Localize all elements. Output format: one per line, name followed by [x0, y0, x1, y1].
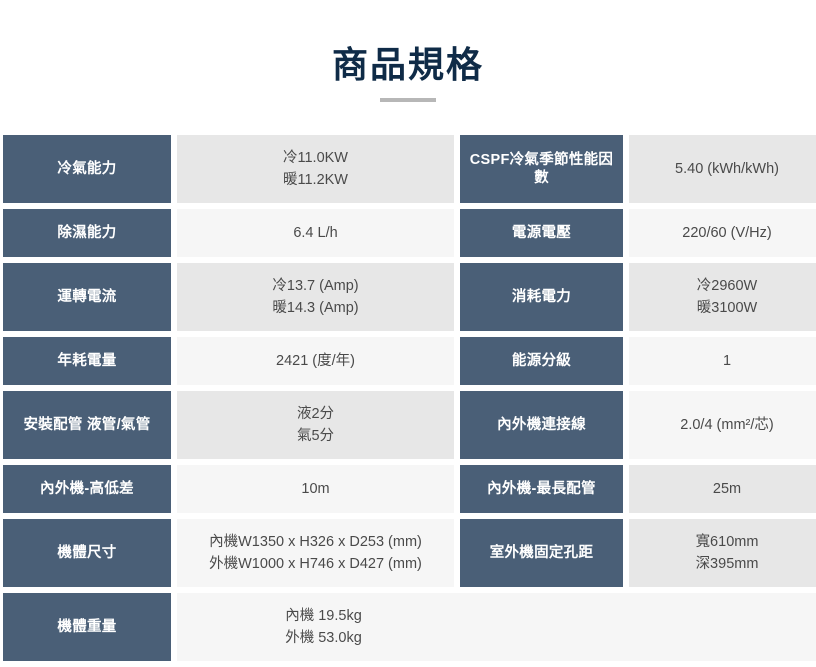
spec-label-text: 除濕能力 — [3, 209, 171, 257]
spec-value-text: 液2分氣5分 — [177, 391, 454, 459]
spec-label-text: 室外機固定孔距 — [460, 519, 623, 587]
spec-label-cell-left: 機體尺寸 — [3, 519, 171, 587]
spec-label-cell-left: 冷氣能力 — [3, 135, 171, 203]
value-line: 25m — [637, 478, 816, 500]
table-row: 年耗電量2421 (度/年)能源分級1 — [3, 337, 816, 385]
spec-value-text: 6.4 L/h — [177, 209, 454, 257]
spec-label-cell-left: 內外機-高低差 — [3, 465, 171, 513]
spec-label-text: CSPF冷氣季節性能因數 — [460, 135, 623, 203]
spec-value-cell-left: 內機W1350 x H326 x D253 (mm)外機W1000 x H746… — [177, 519, 454, 587]
value-line: 暖14.3 (Amp) — [185, 297, 446, 319]
page-header: 商品規格 — [0, 0, 816, 102]
value-line: 外機W1000 x H746 x D427 (mm) — [185, 553, 446, 575]
value-line: 10m — [185, 478, 446, 500]
spec-label-cell-right: 消耗電力 — [460, 263, 623, 331]
spec-value-cell-left: 2421 (度/年) — [177, 337, 454, 385]
spec-label-text: 電源電壓 — [460, 209, 623, 257]
spec-label-text: 內外機-最長配管 — [460, 465, 623, 513]
spec-value-text: 25m — [629, 465, 816, 513]
title-divider — [380, 98, 436, 102]
value-lines: 內機W1350 x H326 x D253 (mm)外機W1000 x H746… — [185, 531, 446, 576]
spec-value-cell-left: 液2分氣5分 — [177, 391, 454, 459]
table-row: 冷氣能力冷11.0KW暖11.2KWCSPF冷氣季節性能因數5.40 (kWh/… — [3, 135, 816, 203]
value-line: 6.4 L/h — [185, 222, 446, 244]
value-line: 暖11.2KW — [185, 169, 446, 191]
spec-value-text: 冷11.0KW暖11.2KW — [177, 135, 454, 203]
value-lines: 10m — [185, 478, 446, 500]
value-line: 氣5分 — [185, 425, 446, 447]
spec-value-cell-left: 10m — [177, 465, 454, 513]
table-row: 除濕能力6.4 L/h電源電壓220/60 (V/Hz) — [3, 209, 816, 257]
value-lines: 寬610mm深395mm — [637, 531, 816, 576]
spec-label-cell-right: CSPF冷氣季節性能因數 — [460, 135, 623, 203]
value-line: 冷13.7 (Amp) — [185, 275, 446, 297]
value-line: 1 — [637, 350, 816, 372]
table-row: 機體尺寸內機W1350 x H326 x D253 (mm)外機W1000 x … — [3, 519, 816, 587]
table-row: 機體重量內機 19.5kg外機 53.0kg — [3, 593, 816, 661]
spec-table-body: 冷氣能力冷11.0KW暖11.2KWCSPF冷氣季節性能因數5.40 (kWh/… — [3, 135, 816, 661]
spec-label-text: 冷氣能力 — [3, 135, 171, 203]
spec-value-text: 5.40 (kWh/kWh) — [629, 135, 816, 203]
spec-value-text: 冷2960W暖3100W — [629, 263, 816, 331]
value-line: 冷2960W — [637, 275, 816, 297]
spec-label-cell-left: 除濕能力 — [3, 209, 171, 257]
page-title: 商品規格 — [0, 44, 816, 85]
value-lines: 1 — [637, 350, 816, 372]
value-lines: 6.4 L/h — [185, 222, 446, 244]
spec-value-text: 內機 19.5kg外機 53.0kg — [177, 593, 816, 661]
spec-value-cell-right: 冷2960W暖3100W — [629, 263, 816, 331]
value-line: 內機 19.5kg — [185, 605, 462, 627]
spec-label-cell-left: 機體重量 — [3, 593, 171, 661]
value-line: 內機W1350 x H326 x D253 (mm) — [185, 531, 446, 553]
value-lines: 220/60 (V/Hz) — [637, 222, 816, 244]
value-line: 深395mm — [637, 553, 816, 575]
value-lines: 液2分氣5分 — [185, 403, 446, 448]
value-line: 液2分 — [185, 403, 446, 425]
spec-label-text: 內外機連接線 — [460, 391, 623, 459]
spec-value-cell-left: 6.4 L/h — [177, 209, 454, 257]
spec-value-text: 1 — [629, 337, 816, 385]
spec-label-cell-right: 內外機-最長配管 — [460, 465, 623, 513]
product-spec-page: 商品規格 冷氣能力冷11.0KW暖11.2KWCSPF冷氣季節性能因數5.40 … — [0, 0, 816, 639]
value-line: 2.0/4 (mm²/芯) — [637, 414, 816, 436]
value-lines: 內機 19.5kg外機 53.0kg — [185, 605, 462, 650]
spec-value-cell-right: 5.40 (kWh/kWh) — [629, 135, 816, 203]
spec-label-text: 年耗電量 — [3, 337, 171, 385]
spec-value-cell-right: 寬610mm深395mm — [629, 519, 816, 587]
value-line: 5.40 (kWh/kWh) — [637, 158, 816, 180]
spec-label-cell-right: 內外機連接線 — [460, 391, 623, 459]
spec-label-text: 機體重量 — [3, 593, 171, 661]
value-line: 冷11.0KW — [185, 147, 446, 169]
spec-value-cell-right: 25m — [629, 465, 816, 513]
spec-value-text: 冷13.7 (Amp)暖14.3 (Amp) — [177, 263, 454, 331]
value-lines: 冷11.0KW暖11.2KW — [185, 147, 446, 192]
spec-value-text: 2.0/4 (mm²/芯) — [629, 391, 816, 459]
value-lines: 25m — [637, 478, 816, 500]
value-line: 2421 (度/年) — [185, 350, 446, 372]
spec-label-cell-right: 室外機固定孔距 — [460, 519, 623, 587]
spec-label-cell-left: 安裝配管 液管/氣管 — [3, 391, 171, 459]
value-lines: 冷2960W暖3100W — [637, 275, 816, 320]
value-lines: 冷13.7 (Amp)暖14.3 (Amp) — [185, 275, 446, 320]
value-lines: 5.40 (kWh/kWh) — [637, 158, 816, 180]
spec-label-text: 運轉電流 — [3, 263, 171, 331]
product-spec-table: 冷氣能力冷11.0KW暖11.2KWCSPF冷氣季節性能因數5.40 (kWh/… — [0, 129, 816, 667]
spec-value-text: 220/60 (V/Hz) — [629, 209, 816, 257]
spec-label-text: 能源分級 — [460, 337, 623, 385]
spec-label-cell-left: 年耗電量 — [3, 337, 171, 385]
spec-value-text: 內機W1350 x H326 x D253 (mm)外機W1000 x H746… — [177, 519, 454, 587]
spec-label-text: 安裝配管 液管/氣管 — [3, 391, 171, 459]
spec-label-text: 內外機-高低差 — [3, 465, 171, 513]
value-line: 寬610mm — [637, 531, 816, 553]
spec-value-text: 寬610mm深395mm — [629, 519, 816, 587]
spec-value-cell-right: 2.0/4 (mm²/芯) — [629, 391, 816, 459]
spec-value-text: 2421 (度/年) — [177, 337, 454, 385]
table-row: 安裝配管 液管/氣管液2分氣5分內外機連接線2.0/4 (mm²/芯) — [3, 391, 816, 459]
spec-label-cell-right: 能源分級 — [460, 337, 623, 385]
spec-label-text: 機體尺寸 — [3, 519, 171, 587]
spec-value-cell-left: 冷13.7 (Amp)暖14.3 (Amp) — [177, 263, 454, 331]
spec-value-cell-right: 220/60 (V/Hz) — [629, 209, 816, 257]
spec-table-container: 冷氣能力冷11.0KW暖11.2KWCSPF冷氣季節性能因數5.40 (kWh/… — [0, 129, 816, 667]
spec-value-cell-left: 內機 19.5kg外機 53.0kg — [177, 593, 816, 661]
value-lines: 2421 (度/年) — [185, 350, 446, 372]
spec-label-text: 消耗電力 — [460, 263, 623, 331]
spec-label-cell-left: 運轉電流 — [3, 263, 171, 331]
value-line: 暖3100W — [637, 297, 816, 319]
table-row: 運轉電流冷13.7 (Amp)暖14.3 (Amp)消耗電力冷2960W暖310… — [3, 263, 816, 331]
spec-value-cell-left: 冷11.0KW暖11.2KW — [177, 135, 454, 203]
spec-label-cell-right: 電源電壓 — [460, 209, 623, 257]
table-row: 內外機-高低差10m內外機-最長配管25m — [3, 465, 816, 513]
value-line: 220/60 (V/Hz) — [637, 222, 816, 244]
value-lines: 2.0/4 (mm²/芯) — [637, 414, 816, 436]
spec-value-cell-right: 1 — [629, 337, 816, 385]
spec-value-text: 10m — [177, 465, 454, 513]
